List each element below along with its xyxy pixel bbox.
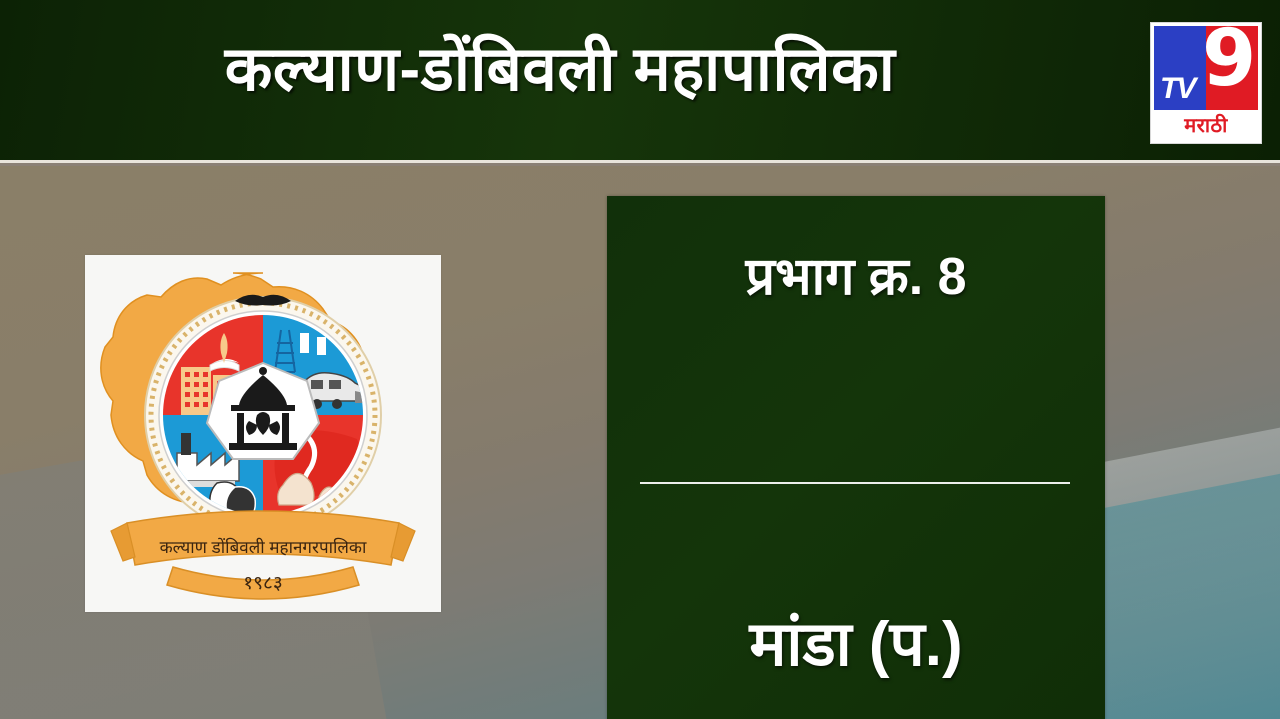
tv9-logo-nine-text: 9 [1206, 26, 1256, 98]
emblem-year-text: १९८३ [243, 573, 283, 594]
header-band: कल्याण-डोंबिवली महापालिका TV 9 मराठी [0, 0, 1280, 163]
ward-name-label: मांडा (प.) [607, 606, 1105, 684]
graphic-card-screen: कल्याण-डोंबिवली महापालिका TV 9 मराठी [0, 0, 1280, 719]
kdmc-emblem-icon: कल्याण डोंबिवली महानगरपालिका १९८३ [85, 255, 441, 612]
tv9-logo-mark: TV 9 [1154, 26, 1258, 110]
emblem-banner-text: कल्याण डोंबिवली महानगरपालिका [160, 537, 367, 557]
page-title: कल्याण-डोंबिवली महापालिका [0, 28, 1120, 112]
ward-info-card: प्रभाग क्र. 8 मांडा (प.) tv9marathi.com [607, 196, 1105, 719]
tv9-logo-language-text: मराठी [1154, 110, 1258, 142]
body-background: कल्याण डोंबिवली महानगरपालिका १९८३ प्रभाग… [0, 166, 1280, 719]
tv9-marathi-logo: TV 9 मराठी [1150, 22, 1262, 144]
ward-number-label: प्रभाग क्र. 8 [607, 244, 1105, 312]
tv9-logo-blue-panel: TV [1154, 26, 1206, 110]
tv9-logo-tv-text: TV [1160, 74, 1194, 104]
tv9-logo-red-panel: 9 [1206, 26, 1258, 110]
kdmc-emblem: कल्याण डोंबिवली महानगरपालिका १९८३ [85, 255, 441, 612]
card-divider [640, 482, 1070, 484]
